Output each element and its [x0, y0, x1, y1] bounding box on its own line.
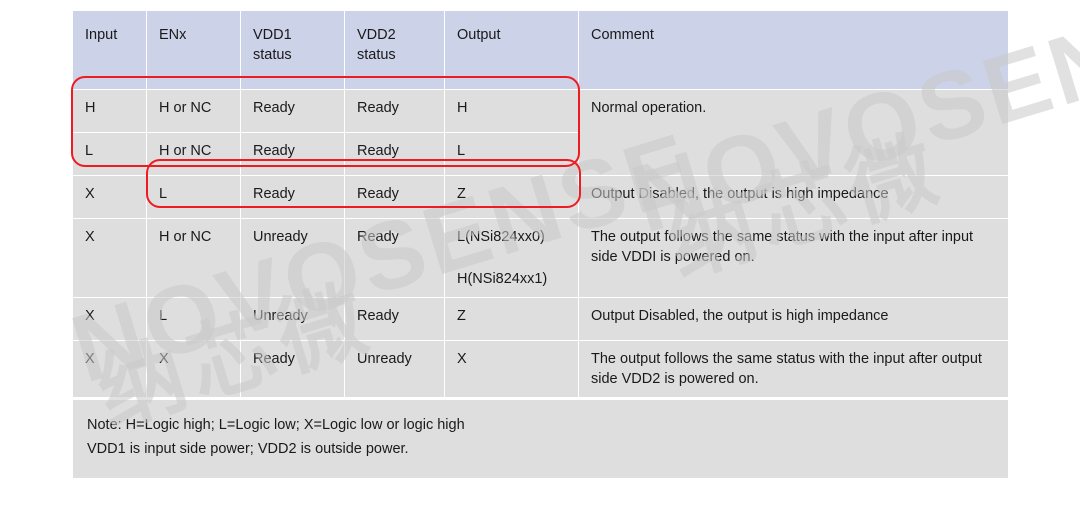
cell-vdd1: Ready — [241, 133, 345, 176]
truth-table-container: Input ENx VDD1 status VDD2 status Output… — [72, 10, 1008, 479]
truth-table-figure: NOVOSENSE 纳芯微 NOVOSENSE 纳芯微 Input ENx VD… — [0, 0, 1080, 520]
table-body: H H or NC Ready Ready H Normal operation… — [73, 90, 1009, 479]
cell-vdd2: Ready — [345, 176, 445, 219]
header-line-2: status — [253, 47, 292, 63]
column-header-enx: ENx — [147, 11, 241, 90]
cell-output: Z — [445, 298, 579, 341]
cell-comment: Normal operation. — [579, 90, 1009, 176]
cell-enx: H or NC — [147, 219, 241, 298]
cell-input: X — [73, 298, 147, 341]
cell-vdd1: Unready — [241, 219, 345, 298]
column-header-vdd2-status: VDD2 status — [345, 11, 445, 90]
cell-vdd1: Ready — [241, 176, 345, 219]
column-header-input: Input — [73, 11, 147, 90]
cell-vdd2: Ready — [345, 219, 445, 298]
cell-output-line-2: H(NSi824xx1) — [457, 269, 568, 289]
cell-output: X — [445, 341, 579, 399]
truth-table: Input ENx VDD1 status VDD2 status Output… — [72, 10, 1009, 479]
table-row: X H or NC Unready Ready L(NSi824xx0) H(N… — [73, 219, 1009, 298]
cell-output-line-1: L(NSi824xx0) — [457, 227, 568, 247]
table-header: Input ENx VDD1 status VDD2 status Output… — [73, 11, 1009, 90]
cell-enx: X — [147, 341, 241, 399]
cell-comment: Output Disabled, the output is high impe… — [579, 298, 1009, 341]
cell-vdd2: Ready — [345, 90, 445, 133]
column-header-output: Output — [445, 11, 579, 90]
cell-output: Z — [445, 176, 579, 219]
cell-input: H — [73, 90, 147, 133]
cell-vdd1: Ready — [241, 341, 345, 399]
cell-vdd2: Ready — [345, 298, 445, 341]
cell-output: H — [445, 90, 579, 133]
cell-vdd2: Ready — [345, 133, 445, 176]
header-line-2: status — [357, 47, 396, 63]
table-row: X L Ready Ready Z Output Disabled, the o… — [73, 176, 1009, 219]
table-row: X X Ready Unready X The output follows t… — [73, 341, 1009, 399]
cell-input: X — [73, 176, 147, 219]
cell-output: L(NSi824xx0) H(NSi824xx1) — [445, 219, 579, 298]
table-note-row: Note: H=Logic high; L=Logic low; X=Logic… — [73, 399, 1009, 479]
header-line-1: VDD1 — [253, 27, 292, 43]
cell-enx: H or NC — [147, 90, 241, 133]
cell-vdd2: Unready — [345, 341, 445, 399]
note-line-1: Note: H=Logic high; L=Logic low; X=Logic… — [87, 414, 994, 438]
cell-comment: The output follows the same status with … — [579, 219, 1009, 298]
cell-vdd1: Ready — [241, 90, 345, 133]
column-header-comment: Comment — [579, 11, 1009, 90]
cell-comment: Output Disabled, the output is high impe… — [579, 176, 1009, 219]
cell-vdd1: Unready — [241, 298, 345, 341]
table-row: H H or NC Ready Ready H Normal operation… — [73, 90, 1009, 133]
cell-input: X — [73, 219, 147, 298]
note-line-2: VDD1 is input side power; VDD2 is outsid… — [87, 438, 994, 462]
column-header-vdd1-status: VDD1 status — [241, 11, 345, 90]
table-note: Note: H=Logic high; L=Logic low; X=Logic… — [73, 399, 1009, 479]
header-line-1: VDD2 — [357, 27, 396, 43]
cell-output: L — [445, 133, 579, 176]
cell-enx: L — [147, 176, 241, 219]
cell-input: L — [73, 133, 147, 176]
cell-comment: The output follows the same status with … — [579, 341, 1009, 399]
table-row: X L Unready Ready Z Output Disabled, the… — [73, 298, 1009, 341]
cell-enx: H or NC — [147, 133, 241, 176]
cell-enx: L — [147, 298, 241, 341]
header-row: Input ENx VDD1 status VDD2 status Output… — [73, 11, 1009, 90]
cell-input: X — [73, 341, 147, 399]
